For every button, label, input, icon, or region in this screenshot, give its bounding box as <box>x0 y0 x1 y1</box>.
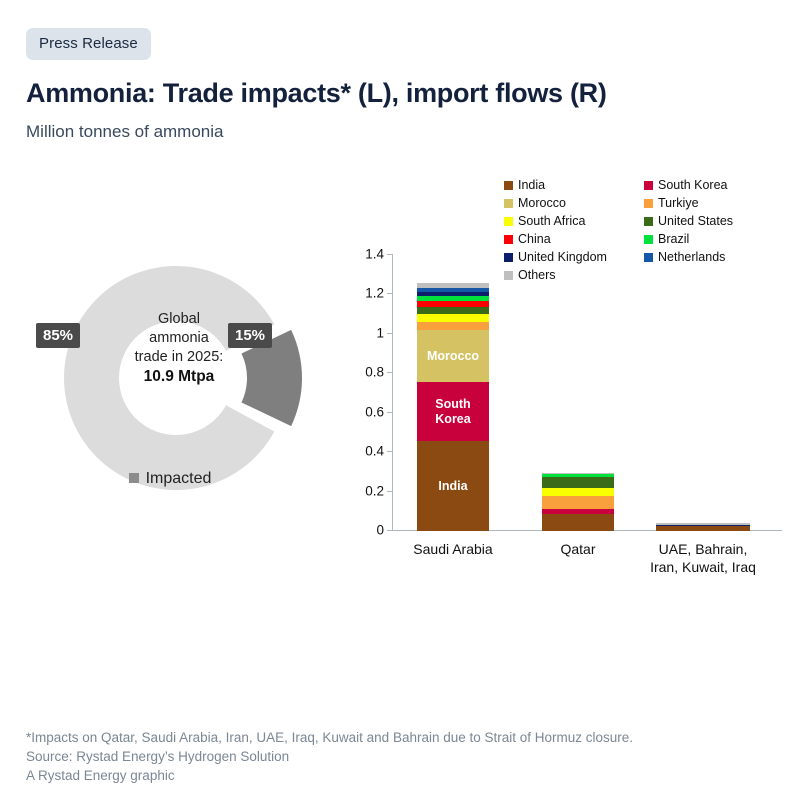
y-axis-tick <box>387 491 392 492</box>
footer: *Impacts on Qatar, Saudi Arabia, Iran, U… <box>26 728 633 785</box>
bar-segment-turkiye[interactable] <box>542 496 614 508</box>
y-axis-tick-label: 0 <box>352 523 384 538</box>
y-axis-tick-label: 0.2 <box>352 483 384 498</box>
y-axis-tick <box>387 293 392 294</box>
legend-swatch-icon <box>644 235 653 244</box>
legend-swatch-icon <box>504 235 513 244</box>
legend-swatch-icon <box>644 199 653 208</box>
legend-swatch-icon <box>504 217 513 226</box>
y-axis-tick <box>387 372 392 373</box>
legend-label: Morocco <box>518 196 566 210</box>
bar-segment-south-korea[interactable]: SouthKorea <box>417 382 489 441</box>
footnote-source: Source: Rystad Energy’s Hydrogen Solutio… <box>26 747 633 766</box>
x-axis-label-2: Qatar <box>508 540 648 558</box>
legend-label: South Korea <box>658 178 728 192</box>
legend-item-india[interactable]: India <box>504 178 644 192</box>
x-axis-label-1: Saudi Arabia <box>383 540 523 558</box>
bar-segment-others[interactable] <box>542 473 614 474</box>
donut-slice-not-impacted <box>64 266 274 490</box>
bar-2[interactable] <box>542 473 614 531</box>
donut-legend-label-impacted: Impacted <box>146 470 212 487</box>
bar-segment-south-africa[interactable] <box>542 488 614 496</box>
legend-swatch-icon <box>644 217 653 226</box>
donut-chart <box>10 258 350 498</box>
y-axis-tick-label: 1.4 <box>352 247 384 262</box>
legend-item-united-states[interactable]: United States <box>644 214 784 228</box>
legend-label: India <box>518 178 545 192</box>
legend-swatch-icon <box>644 181 653 190</box>
y-axis-tick <box>387 530 392 531</box>
bar-chart-plot-area: 00.20.40.60.811.21.4 IndiaSouthKoreaMoro… <box>352 254 792 544</box>
legend-swatch-icon <box>504 181 513 190</box>
bar-segment-morocco[interactable]: Morocco <box>417 330 489 382</box>
x-axis-labels: Saudi ArabiaQatarUAE, Bahrain,Iran, Kuwa… <box>393 536 783 596</box>
legend-label: Brazil <box>658 232 689 246</box>
bar-segment-turkiye[interactable] <box>417 322 489 330</box>
legend-item-morocco[interactable]: Morocco <box>504 196 644 210</box>
footnote-credit: A Rystad Energy graphic <box>26 766 633 785</box>
legend-item-turkiye[interactable]: Turkiye <box>644 196 784 210</box>
bar-segment-south-korea[interactable] <box>542 509 614 515</box>
donut-percent-not-impacted: 85% <box>36 323 80 348</box>
bar-segment-netherlands[interactable] <box>417 288 489 292</box>
legend-item-china[interactable]: China <box>504 232 644 246</box>
bar-series-container: IndiaSouthKoreaMorocco <box>393 254 783 531</box>
bar-chart: IndiaSouth KoreaMoroccoTurkiyeSouth Afri… <box>352 170 792 590</box>
bar-segment-india[interactable]: India <box>417 441 489 531</box>
legend-item-brazil[interactable]: Brazil <box>644 232 784 246</box>
bar-segment-south-africa[interactable] <box>417 314 489 322</box>
donut-percent-impacted: 15% <box>228 323 272 348</box>
bar-3[interactable] <box>656 523 750 531</box>
y-axis-tick <box>387 451 392 452</box>
bar-segment-label: India <box>417 479 489 494</box>
y-axis-tick <box>387 412 392 413</box>
bar-segment-brazil[interactable] <box>542 474 614 477</box>
legend-item-south-africa[interactable]: South Africa <box>504 214 644 228</box>
y-axis-labels: 00.20.40.60.811.21.4 <box>352 254 384 530</box>
y-axis-tick-label: 0.4 <box>352 444 384 459</box>
footnote-impacts: *Impacts on Qatar, Saudi Arabia, Iran, U… <box>26 728 633 747</box>
bar-segment-india[interactable] <box>656 526 750 531</box>
donut-legend-swatch-impacted <box>129 473 139 483</box>
y-axis-tick-label: 1.2 <box>352 286 384 301</box>
y-axis-tick-label: 0.6 <box>352 404 384 419</box>
bar-1[interactable]: IndiaSouthKoreaMorocco <box>417 283 489 531</box>
bar-segment-china[interactable] <box>417 301 489 307</box>
bar-segment-united-states[interactable] <box>417 307 489 314</box>
bar-segment-united-kingdom[interactable] <box>656 525 750 526</box>
y-axis-tick <box>387 254 392 255</box>
y-axis-tick <box>387 333 392 334</box>
bar-segment-label: SouthKorea <box>417 397 489 427</box>
bar-segment-others[interactable] <box>656 523 750 525</box>
bar-segment-brazil[interactable] <box>417 296 489 301</box>
donut-legend: Impacted <box>0 470 340 488</box>
bar-segment-united-states[interactable] <box>542 477 614 489</box>
x-axis-label-3: UAE, Bahrain,Iran, Kuwait, Iraq <box>633 540 773 576</box>
page-subtitle: Million tonnes of ammonia <box>26 122 223 142</box>
legend-swatch-icon <box>504 199 513 208</box>
donut-svg <box>10 258 350 498</box>
bar-segment-others[interactable] <box>417 283 489 289</box>
bar-segment-label: Morocco <box>417 349 489 364</box>
legend-item-south-korea[interactable]: South Korea <box>644 178 784 192</box>
page-title: Ammonia: Trade impacts* (L), import flow… <box>26 78 607 109</box>
y-axis-tick-label: 0.8 <box>352 365 384 380</box>
legend-label: China <box>518 232 551 246</box>
y-axis-tick-label: 1 <box>352 325 384 340</box>
legend-label: United States <box>658 214 733 228</box>
bar-segment-india[interactable] <box>542 514 614 531</box>
bar-segment-united-kingdom[interactable] <box>417 292 489 296</box>
legend-label: Turkiye <box>658 196 699 210</box>
legend-label: South Africa <box>518 214 585 228</box>
press-release-badge: Press Release <box>26 28 151 60</box>
